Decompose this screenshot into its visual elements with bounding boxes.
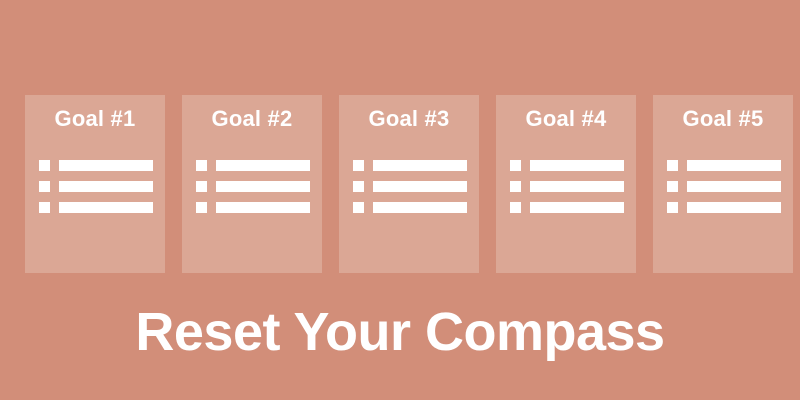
bullet-square-icon [510, 181, 521, 192]
goal-card-title: Goal #3 [339, 108, 479, 130]
placeholder-bar [530, 160, 624, 171]
placeholder-bar [687, 181, 781, 192]
bullet-square-icon [196, 202, 207, 213]
goal-placeholder-lines [510, 160, 624, 213]
bullet-square-icon [353, 160, 364, 171]
list-item [667, 181, 781, 192]
goal-card-title: Goal #2 [182, 108, 322, 130]
goal-card-title: Goal #4 [496, 108, 636, 130]
placeholder-bar [216, 202, 310, 213]
placeholder-bar [373, 160, 467, 171]
placeholder-bar [216, 160, 310, 171]
list-item [667, 160, 781, 171]
placeholder-bar [59, 160, 153, 171]
goal-card-title: Goal #5 [653, 108, 793, 130]
list-item [510, 160, 624, 171]
goal-card-5[interactable]: Goal #5 [653, 95, 793, 273]
goal-placeholder-lines [39, 160, 153, 213]
list-item [353, 160, 467, 171]
bullet-square-icon [667, 202, 678, 213]
placeholder-bar [59, 202, 153, 213]
placeholder-bar [59, 181, 153, 192]
goal-card-1[interactable]: Goal #1 [25, 95, 165, 273]
goal-card-3[interactable]: Goal #3 [339, 95, 479, 273]
bullet-square-icon [39, 160, 50, 171]
list-item [353, 202, 467, 213]
bullet-square-icon [39, 202, 50, 213]
list-item [667, 202, 781, 213]
list-item [39, 202, 153, 213]
placeholder-bar [530, 202, 624, 213]
list-item [510, 202, 624, 213]
goal-placeholder-lines [353, 160, 467, 213]
bullet-square-icon [353, 202, 364, 213]
placeholder-bar [373, 181, 467, 192]
goal-card-4[interactable]: Goal #4 [496, 95, 636, 273]
placeholder-bar [216, 181, 310, 192]
bullet-square-icon [196, 160, 207, 171]
bullet-square-icon [510, 160, 521, 171]
list-item [196, 181, 310, 192]
placeholder-bar [530, 181, 624, 192]
list-item [353, 181, 467, 192]
placeholder-bar [687, 202, 781, 213]
goal-card-list: Goal #1 Goal #2 [25, 95, 793, 273]
bullet-square-icon [667, 181, 678, 192]
placeholder-bar [687, 160, 781, 171]
list-item [39, 160, 153, 171]
slide-canvas: Goal #1 Goal #2 [0, 0, 800, 400]
bullet-square-icon [667, 160, 678, 171]
bullet-square-icon [510, 202, 521, 213]
goal-placeholder-lines [196, 160, 310, 213]
list-item [39, 181, 153, 192]
bullet-square-icon [353, 181, 364, 192]
list-item [510, 181, 624, 192]
list-item [196, 160, 310, 171]
placeholder-bar [373, 202, 467, 213]
page-title: Reset Your Compass [0, 305, 800, 359]
goal-card-2[interactable]: Goal #2 [182, 95, 322, 273]
goal-card-title: Goal #1 [25, 108, 165, 130]
list-item [196, 202, 310, 213]
bullet-square-icon [196, 181, 207, 192]
goal-placeholder-lines [667, 160, 781, 213]
bullet-square-icon [39, 181, 50, 192]
